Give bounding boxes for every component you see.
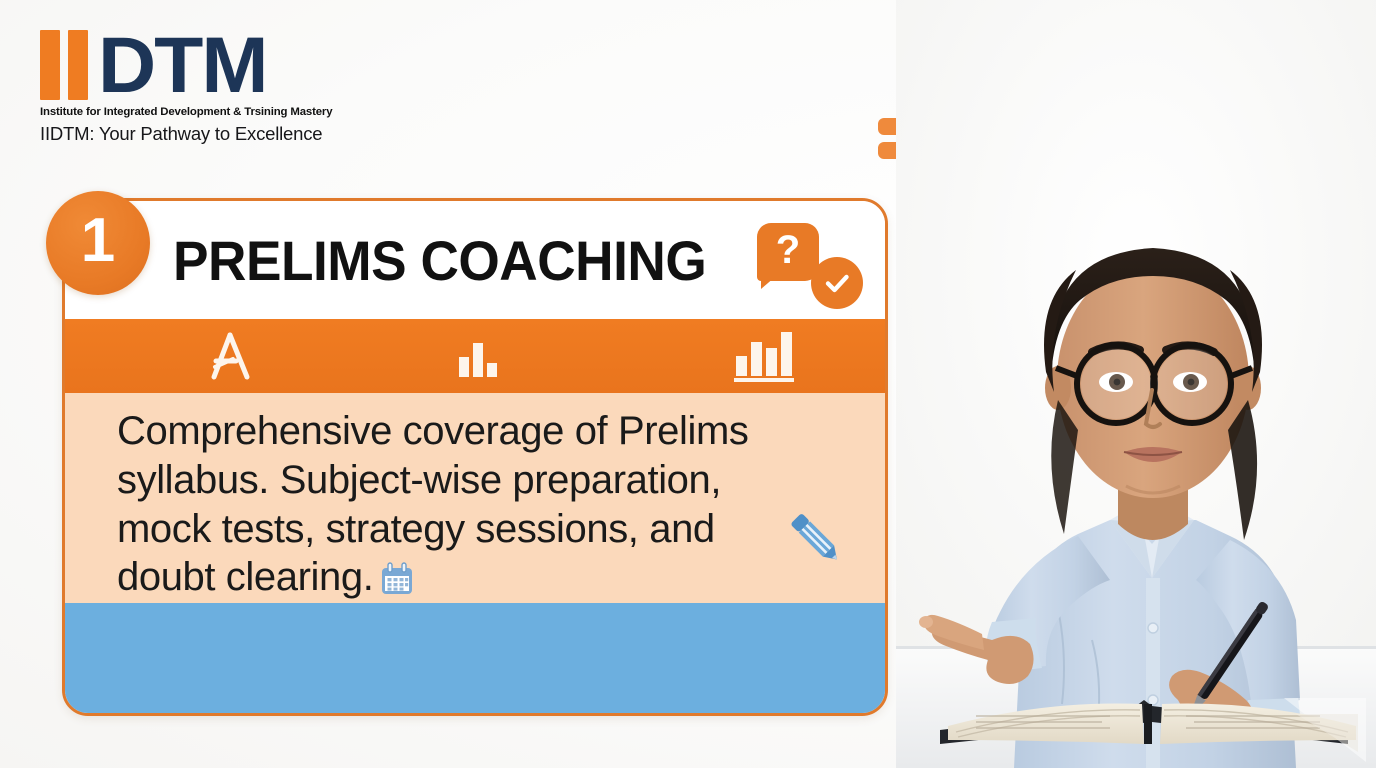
card-body-text: Comprehensive coverage of Prelims syllab… <box>117 407 817 608</box>
prelims-coaching-card: PRELIMS COACHING ? <box>62 198 888 716</box>
small-bar-chart-icon <box>433 319 523 393</box>
brand-logo: DTM Institute for Integrated Development… <box>40 26 370 145</box>
logo-mark: DTM <box>40 26 370 100</box>
logo-wordmark: DTM <box>98 30 266 100</box>
question-bubble-icon: ? <box>757 223 819 281</box>
slide-canvas: DTM Institute for Integrated Development… <box>0 0 1376 768</box>
step-number-badge: 1 <box>46 191 150 295</box>
logo-bar-1 <box>40 30 60 100</box>
pencil-emoji <box>779 503 851 575</box>
achievement-a-icon <box>185 319 275 393</box>
check-circle-icon <box>811 257 863 309</box>
card-body-text-value: Comprehensive coverage of Prelims syllab… <box>117 409 749 599</box>
logo-bar-2 <box>68 30 88 100</box>
card-footer-bar <box>65 603 885 713</box>
large-bar-chart-icon <box>715 319 815 393</box>
calendar-emoji <box>379 559 415 608</box>
card-header: PRELIMS COACHING ? <box>65 201 885 319</box>
header-icon-group: ? <box>757 223 863 309</box>
brand-tagline-large: IIDTM: Your Pathway to Excellence <box>40 123 370 145</box>
student-with-glasses-pointing-photo <box>896 0 1376 768</box>
card-body: Comprehensive coverage of Prelims syllab… <box>65 393 885 603</box>
card-icon-bar <box>65 319 885 393</box>
step-number-value: 1 <box>81 210 115 276</box>
card-title: PRELIMS COACHING <box>173 228 706 293</box>
